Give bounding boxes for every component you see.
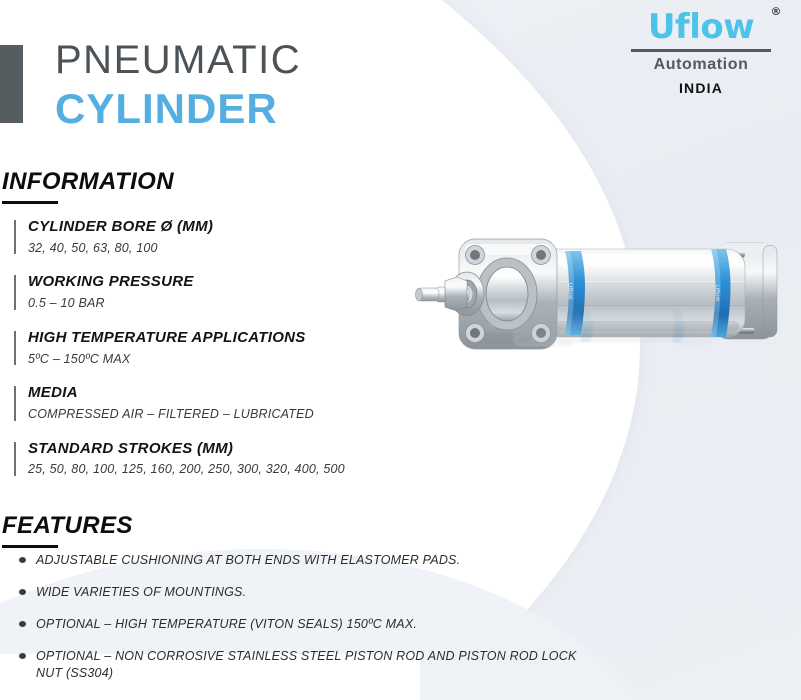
- spec-value: 25, 50, 80, 100, 125, 160, 200, 250, 300…: [28, 462, 394, 478]
- brand-logo-subtitle: Automation: [625, 56, 777, 74]
- brand-logo: Uflow® Automation INDIA: [625, 10, 777, 96]
- feature-item: ADJUSTABLE CUSHIONING AT BOTH ENDS WITH …: [18, 552, 578, 569]
- svg-text:Uflow: Uflow: [566, 283, 574, 300]
- information-heading-rule: [2, 201, 58, 204]
- spec-title: CYLINDER BORE Ø (MM): [28, 218, 394, 237]
- spec-item: MEDIA COMPRESSED AIR – FILTERED – LUBRIC…: [14, 384, 394, 422]
- spec-title: MEDIA: [28, 384, 394, 403]
- information-section-heading: INFORMATION: [2, 168, 174, 204]
- spec-value: COMPRESSED AIR – FILTERED – LUBRICATED: [28, 407, 394, 423]
- page-title-line-2: CYLINDER: [55, 88, 301, 130]
- spec-item: CYLINDER BORE Ø (MM) 32, 40, 50, 63, 80,…: [14, 218, 394, 256]
- features-heading-rule: [2, 545, 58, 548]
- spec-title: STANDARD STROKES (MM): [28, 440, 394, 459]
- spec-title: WORKING PRESSURE: [28, 273, 394, 292]
- feature-item: WIDE VARIETIES OF MOUNTINGS.: [18, 584, 578, 601]
- brand-logo-country: INDIA: [625, 80, 777, 96]
- registered-trademark-icon: ®: [771, 6, 782, 17]
- features-list: ADJUSTABLE CUSHIONING AT BOTH ENDS WITH …: [18, 552, 578, 696]
- spec-value: 0.5 – 10 BAR: [28, 296, 394, 312]
- specification-list: CYLINDER BORE Ø (MM) 32, 40, 50, 63, 80,…: [14, 218, 394, 495]
- page-title-line-1: PNEUMATIC: [55, 40, 301, 80]
- product-image: Uflow Uflow: [415, 225, 795, 400]
- brand-logo-divider: [631, 49, 771, 52]
- spec-item: HIGH TEMPERATURE APPLICATIONS 5ºC – 150º…: [14, 329, 394, 367]
- brand-logo-wordmark: Uflow®: [625, 10, 777, 44]
- spec-value: 32, 40, 50, 63, 80, 100: [28, 241, 394, 257]
- features-heading-text: FEATURES: [2, 512, 133, 539]
- page-title: PNEUMATIC CYLINDER: [55, 40, 301, 130]
- spec-title: HIGH TEMPERATURE APPLICATIONS: [28, 329, 394, 348]
- features-section-heading: FEATURES: [2, 512, 133, 548]
- svg-text:Uflow: Uflow: [713, 285, 721, 302]
- spec-value: 5ºC – 150ºC MAX: [28, 352, 394, 368]
- product-spec-sheet: PNEUMATIC CYLINDER Uflow® Automation IND…: [0, 0, 801, 700]
- title-accent-tab: [0, 45, 23, 123]
- feature-item: OPTIONAL – HIGH TEMPERATURE (VITON SEALS…: [18, 616, 578, 633]
- feature-item: OPTIONAL – NON CORROSIVE STAINLESS STEEL…: [18, 648, 578, 682]
- spec-item: WORKING PRESSURE 0.5 – 10 BAR: [14, 273, 394, 311]
- information-heading-text: INFORMATION: [2, 168, 174, 195]
- spec-item: STANDARD STROKES (MM) 25, 50, 80, 100, 1…: [14, 440, 394, 478]
